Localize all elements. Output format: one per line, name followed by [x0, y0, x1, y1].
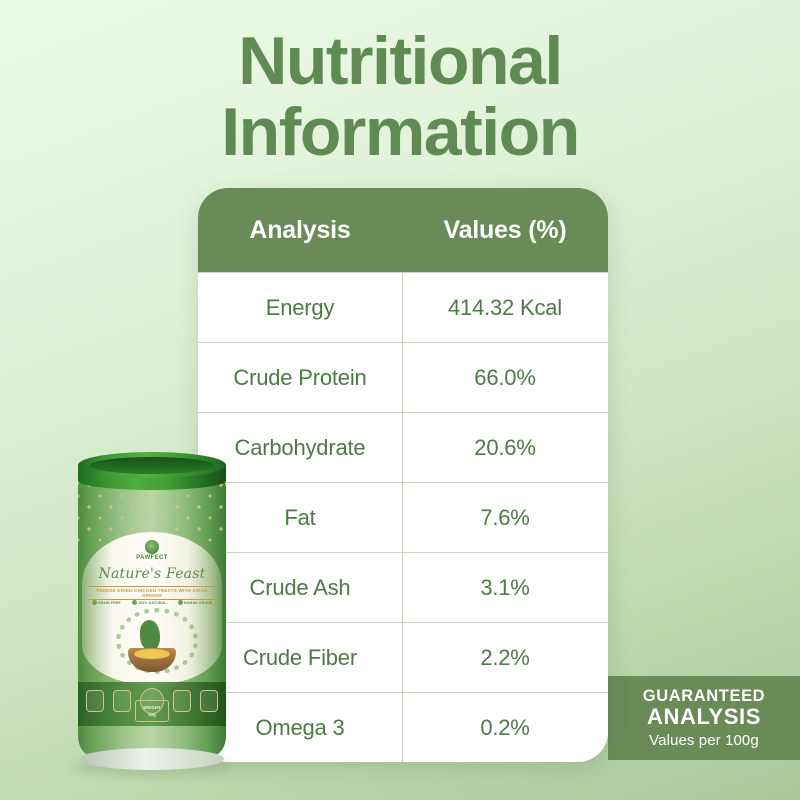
page-title-line-1: Nutritional [0, 26, 800, 97]
paw-icon [178, 600, 183, 605]
weight-label: WEIGHT [136, 705, 168, 712]
table-row: Carbohydrate 20.6% [198, 412, 608, 482]
pea-icon [173, 690, 191, 712]
badge-label: 100% NATURAL [138, 601, 167, 605]
row-label: Crude Ash [198, 575, 402, 601]
page-title-line-2: Information [0, 97, 800, 168]
row-label: Fat [198, 505, 402, 531]
table-row: Crude Protein 66.0% [198, 342, 608, 412]
brand-name: PAWFECT [136, 555, 168, 561]
weight-value: 50g [136, 712, 168, 719]
can-base-rim [80, 748, 224, 770]
can-body: PAWFECT Nature's Feast FREEZE DRIED CHIC… [78, 474, 226, 756]
guaranteed-analysis-badge: GUARANTEED ANALYSIS Values per 100g [608, 676, 800, 760]
table-body: Energy 414.32 Kcal Crude Protein 66.0% C… [198, 272, 608, 762]
guaranteed-analysis-line-1: GUARANTEED [643, 687, 765, 705]
corn-icon [86, 690, 104, 712]
row-value: 3.1% [402, 575, 608, 601]
dog-silhouette-icon [140, 620, 160, 650]
table-row: Energy 414.32 Kcal [198, 272, 608, 342]
badge-label: GRAIN FREE [98, 601, 121, 605]
product-name: Nature's Feast [78, 566, 226, 582]
guaranteed-analysis-line-2: ANALYSIS [647, 705, 761, 730]
spinach-icon [200, 690, 218, 712]
can-lid [78, 452, 226, 498]
row-label: Omega 3 [198, 715, 402, 741]
column-divider [402, 272, 403, 762]
product-description: FREEZE DRIED CHICKEN TREATS WITH ASIAN G… [88, 586, 216, 600]
table-row: Omega 3 0.2% [198, 692, 608, 762]
leaf-icon [132, 600, 137, 605]
carrot-icon [113, 690, 131, 712]
can-lid-inner [90, 457, 214, 474]
table-row: Fat 7.6% [198, 482, 608, 552]
badge-human-grade: HUMAN GRADE [178, 600, 212, 605]
nutrition-poster: Nutritional Information GUARANTEED ANALY… [0, 0, 800, 800]
row-label: Crude Protein [198, 365, 402, 391]
product-badges: GRAIN FREE 100% NATURAL HUMAN GRADE [86, 600, 218, 605]
badge-natural: 100% NATURAL [132, 600, 167, 605]
row-value: 2.2% [402, 645, 608, 671]
table-row: Crude Fiber 2.2% [198, 622, 608, 692]
column-header-values: Values (%) [402, 216, 608, 245]
nutrition-table: Analysis Values (%) Energy 414.32 Kcal C… [198, 188, 608, 762]
product-can-image: PAWFECT Nature's Feast FREEZE DRIED CHIC… [78, 452, 226, 770]
leaf-icon [92, 600, 97, 605]
guaranteed-analysis-line-3: Values per 100g [649, 732, 759, 749]
leaf-icon [145, 540, 159, 554]
row-value: 20.6% [402, 435, 608, 461]
row-label: Carbohydrate [198, 435, 402, 461]
badge-label: HUMAN GRADE [184, 601, 212, 605]
badge-grain-free: GRAIN FREE [92, 600, 121, 605]
row-label: Crude Fiber [198, 645, 402, 671]
page-title: Nutritional Information [0, 26, 800, 167]
row-value: 66.0% [402, 365, 608, 391]
row-value: 414.32 Kcal [402, 295, 608, 321]
brand-logo: PAWFECT [78, 540, 226, 561]
row-label: Energy [198, 295, 402, 321]
table-row: Crude Ash 3.1% [198, 552, 608, 622]
can-illustration [102, 608, 202, 682]
row-value: 0.2% [402, 715, 608, 741]
row-value: 7.6% [402, 505, 608, 531]
table-header-row: Analysis Values (%) [198, 188, 608, 272]
weight-badge: WEIGHT 50g [135, 700, 169, 722]
column-header-analysis: Analysis [198, 216, 402, 245]
